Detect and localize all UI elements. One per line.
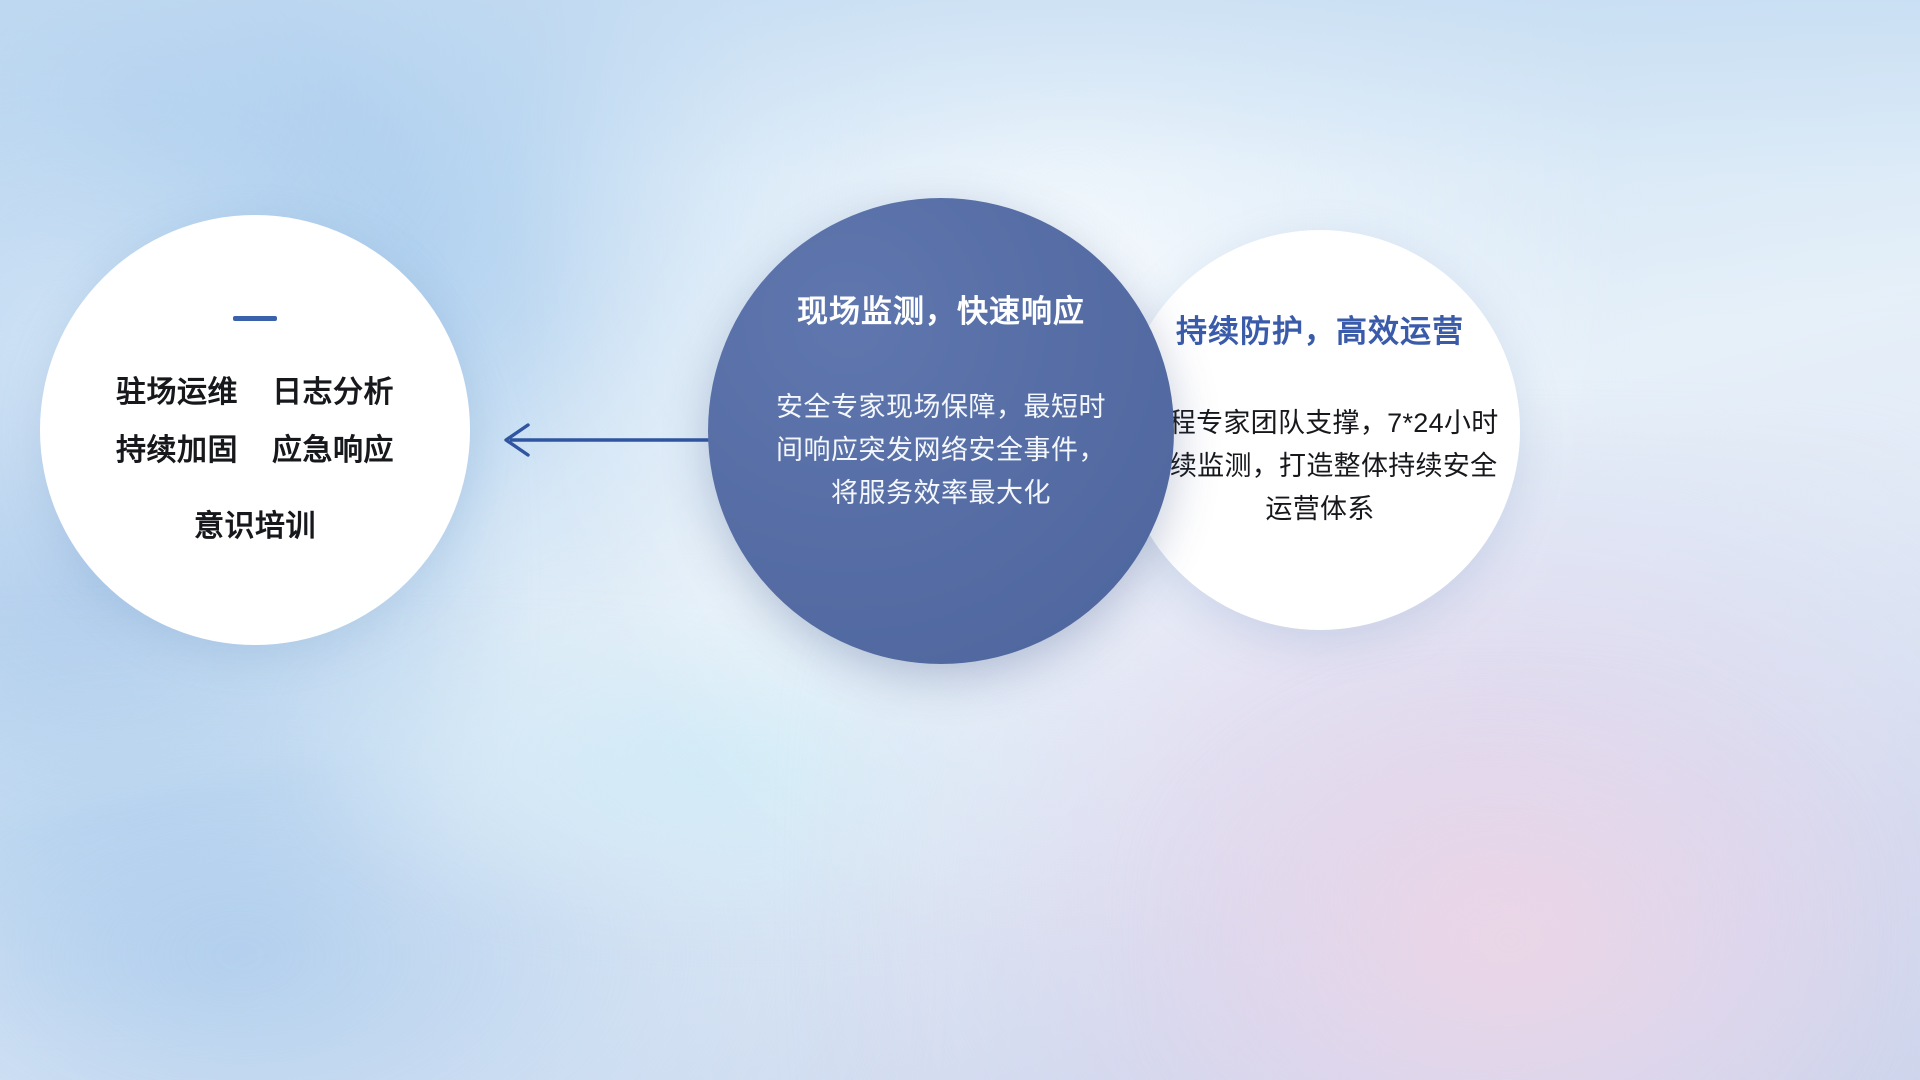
capability-keyword[interactable]: 驻场运维	[116, 367, 238, 411]
on-site-monitoring-content: 现场监测，快速响应 安全专家现场保障，最短时间响应突发网络安全事件，将服务效率最…	[708, 198, 1174, 664]
on-site-monitoring-bubble[interactable]: 现场监测，快速响应 安全专家现场保障，最短时间响应突发网络安全事件，将服务效率最…	[708, 198, 1174, 664]
capability-keyword[interactable]: 持续加固	[116, 425, 238, 469]
title-divider-dash	[233, 316, 277, 321]
capabilities-bubble[interactable]: 驻场运维 日志分析 持续加固 应急响应 意识培训	[40, 215, 470, 645]
capability-keyword-list: 驻场运维 日志分析 持续加固 应急响应 意识培训	[116, 367, 394, 545]
capability-keyword[interactable]: 日志分析	[272, 367, 394, 411]
capability-keyword-row: 驻场运维 日志分析	[116, 367, 394, 411]
on-site-monitoring-body: 安全专家现场保障，最短时间响应突发网络安全事件，将服务效率最大化	[776, 386, 1106, 515]
continuous-protection-body: 远程专家团队支撑，7*24小时持续监测，打造整体持续安全运营体系	[1136, 402, 1504, 531]
capability-keyword[interactable]: 应急响应	[272, 425, 394, 469]
capability-keyword[interactable]: 意识培训	[194, 501, 316, 545]
capability-keyword-row: 持续加固 应急响应	[116, 425, 394, 469]
continuous-protection-title: 持续防护，高效运营	[1176, 306, 1464, 351]
on-site-monitoring-title: 现场监测，快速响应	[797, 286, 1085, 331]
capability-keyword-row: 意识培训	[194, 501, 316, 545]
service-model-diagram: 驻场运维 日志分析 持续加固 应急响应 意识培训 现场监测，快速响应 安全专家现…	[0, 0, 1920, 1080]
continuous-protection-content: 持续防护，高效运营 远程专家团队支撑，7*24小时持续监测，打造整体持续安全运营…	[1120, 230, 1520, 630]
continuous-protection-bubble[interactable]: 持续防护，高效运营 远程专家团队支撑，7*24小时持续监测，打造整体持续安全运营…	[1120, 230, 1520, 630]
